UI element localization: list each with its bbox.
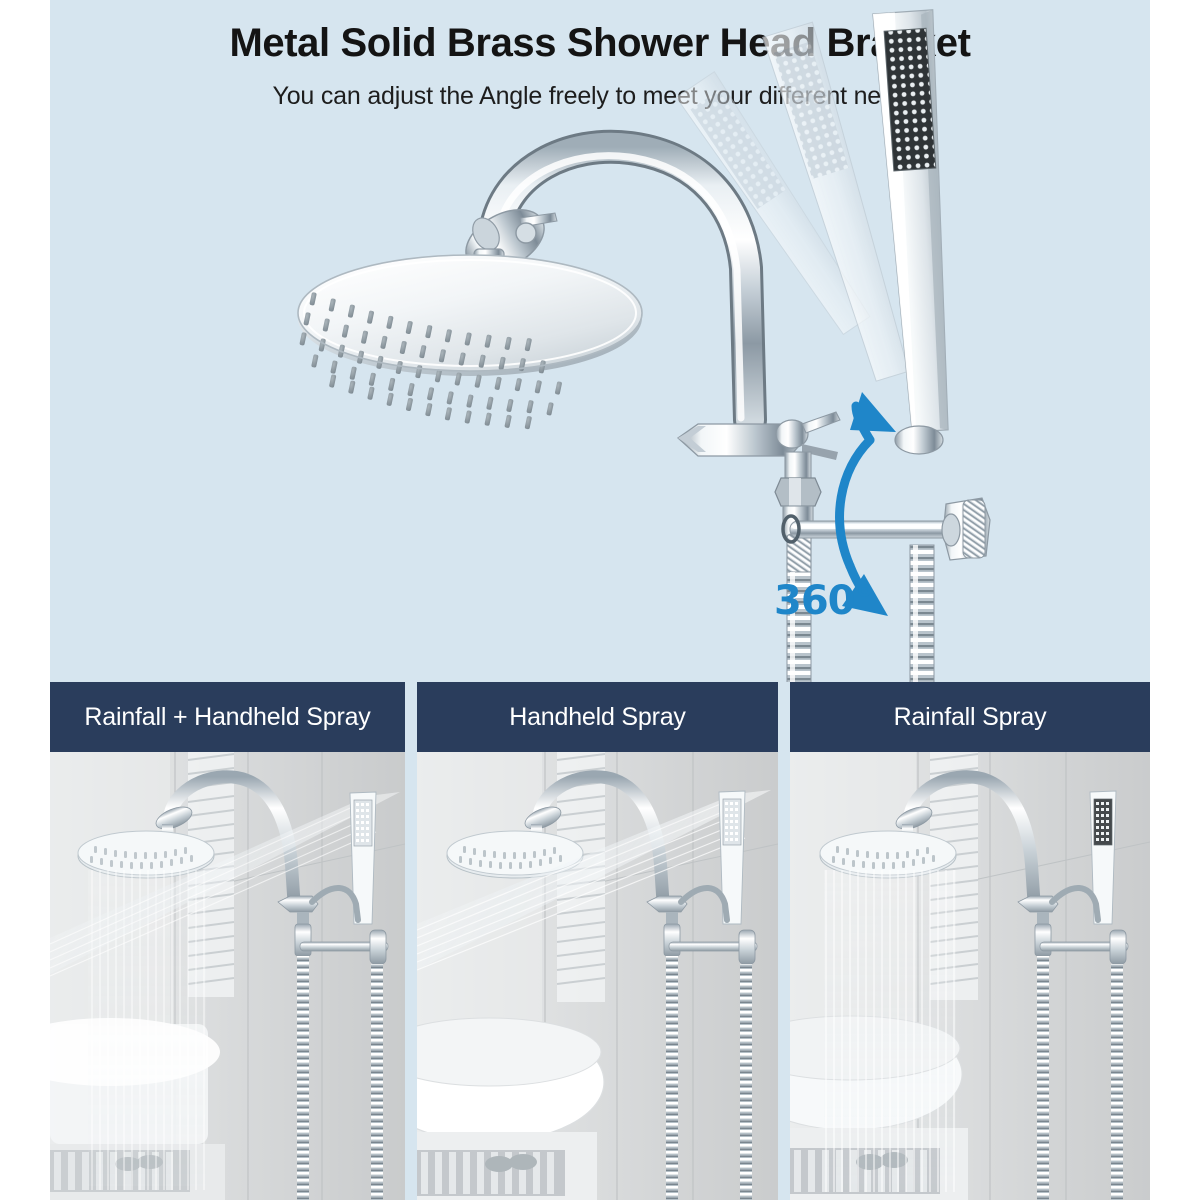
hero-product-illustration [50, 0, 1150, 682]
panel-photo-rainfall [790, 752, 1150, 1200]
bracket-bar [783, 498, 990, 560]
rainfall-shower-head [298, 255, 642, 429]
panel-divider-1 [405, 682, 417, 1200]
panel-label-handheld: Handheld Spray [417, 682, 778, 752]
panel-photo-rainfall-handheld [50, 752, 405, 1200]
panel-divider-2 [778, 682, 790, 1200]
mode-panel-rainfall[interactable]: Rainfall Spray [790, 682, 1150, 1200]
handheld-sprayer-solid-right [873, 10, 962, 454]
panel-label-rainfall: Rainfall Spray [790, 682, 1150, 752]
hero-section: Metal Solid Brass Shower Head Bracket Yo… [50, 0, 1150, 682]
diverter-valve [678, 412, 840, 576]
rainfall-water-stream [824, 870, 956, 1192]
rotation-degree-label: 360° [774, 578, 874, 624]
panel-photo-handheld [417, 752, 778, 1200]
product-infographic: Metal Solid Brass Shower Head Bracket Yo… [0, 0, 1200, 1200]
panel-label-rainfall-handheld: Rainfall + Handheld Spray [50, 682, 405, 752]
mode-panel-handheld[interactable]: Handheld Spray [417, 682, 778, 1200]
mode-panel-rainfall-handheld[interactable]: Rainfall + Handheld Spray [50, 682, 405, 1200]
flexible-metal-hose-right [910, 545, 934, 682]
